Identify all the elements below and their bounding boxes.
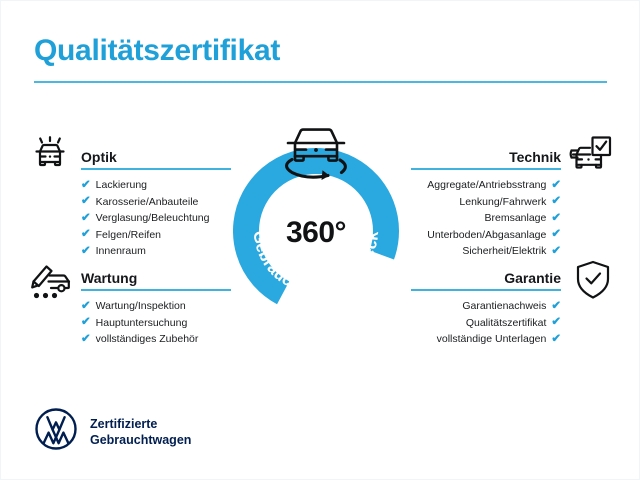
list-item: ✔ Garantienachweis [411, 298, 561, 315]
list-item: ✔ Innenraum [81, 243, 231, 260]
list-item: ✔ Wartung/Inspektion [81, 298, 231, 315]
section-header-optik: Optik [81, 144, 231, 170]
badge-degrees-label: 360° [233, 216, 399, 250]
list-item: ✔ Verglasung/Beleuchtung [81, 210, 231, 227]
certificate-page: Qualitätszertifikat [0, 0, 640, 480]
section-title-wartung: Wartung [81, 270, 137, 286]
section-wartung: Wartung ✔ Wartung/Inspektion ✔ Hauptunte… [81, 265, 231, 348]
check-icon: ✔ [81, 246, 91, 258]
check-icon: ✔ [551, 213, 561, 225]
list-item-label: Lackierung [96, 177, 147, 194]
check-icon: ✔ [81, 213, 91, 225]
section-title-garantie: Garantie [504, 270, 561, 286]
section-garantie: Garantie ✔ Garantienachweis ✔ Qualitätsz… [411, 265, 561, 348]
list-item-label: Garantienachweis [462, 298, 546, 315]
car-front-rotate-icon [270, 117, 362, 189]
list-item: ✔ Lackierung [81, 177, 231, 194]
section-title-optik: Optik [81, 149, 117, 165]
check-icon: ✔ [81, 334, 91, 346]
page-title: Qualitätszertifikat [34, 34, 280, 68]
check-icon: ✔ [551, 180, 561, 192]
check-icon: ✔ [551, 317, 561, 329]
list-item: ✔ Sicherheit/Elektrik [411, 243, 561, 260]
list-item-label: Innenraum [96, 243, 146, 260]
list-item: ✔ Felgen/Reifen [81, 227, 231, 244]
list-item: ✔ Unterboden/Abgasanlage [411, 227, 561, 244]
list-item: ✔ Bremsanlage [411, 210, 561, 227]
check-icon: ✔ [81, 301, 91, 313]
car-checkbox-icon [569, 135, 613, 182]
title-divider [34, 81, 607, 83]
check-icon: ✔ [551, 301, 561, 313]
check-icon: ✔ [81, 180, 91, 192]
list-item-label: Karosserie/Anbauteile [96, 194, 199, 211]
shield-check-icon [575, 259, 611, 306]
vw-logo-icon [34, 407, 78, 456]
car-pencil-service-icon [29, 259, 75, 306]
check-icon: ✔ [551, 196, 561, 208]
list-item: ✔ vollständiges Zubehör [81, 331, 231, 348]
section-optik: Optik ✔ Lackierung ✔ Karosserie/Anbautei… [81, 144, 231, 260]
check-icon: ✔ [551, 334, 561, 346]
badge-360-gebrauchtwagen-check: Gebrauchtwagen-Check 360° [233, 148, 399, 314]
section-list-garantie: ✔ Garantienachweis ✔ Qualitätszertifikat… [411, 298, 561, 348]
footer-line-1: Zertifizierte [90, 416, 191, 432]
section-header-garantie: Garantie [411, 265, 561, 291]
section-list-technik: ✔ Aggregate/Antriebsstrang ✔ Lenkung/Fah… [411, 177, 561, 260]
list-item-label: Qualitätszertifikat [466, 315, 547, 332]
section-header-technik: Technik [411, 144, 561, 170]
list-item-label: Wartung/Inspektion [96, 298, 186, 315]
list-item-label: vollständige Unterlagen [437, 331, 547, 348]
list-item: ✔ Qualitätszertifikat [411, 315, 561, 332]
check-icon: ✔ [81, 317, 91, 329]
list-item: ✔ Karosserie/Anbauteile [81, 194, 231, 211]
list-item: ✔ Aggregate/Antriebsstrang [411, 177, 561, 194]
footer-text: Zertifizierte Gebrauchtwagen [90, 416, 191, 448]
section-technik: Technik ✔ Aggregate/Antriebsstrang ✔ Len… [411, 144, 561, 260]
footer-line-2: Gebrauchtwagen [90, 432, 191, 448]
list-item-label: Lenkung/Fahrwerk [459, 194, 546, 211]
list-item-label: Bremsanlage [484, 210, 546, 227]
section-header-wartung: Wartung [81, 265, 231, 291]
list-item: ✔ Hauptuntersuchung [81, 315, 231, 332]
section-divider-technik [411, 168, 561, 170]
section-divider-optik [81, 168, 231, 170]
section-title-technik: Technik [509, 149, 561, 165]
list-item-label: Unterboden/Abgasanlage [427, 227, 546, 244]
car-front-headlights-icon [29, 135, 71, 182]
list-item: ✔ vollständige Unterlagen [411, 331, 561, 348]
list-item-label: Hauptuntersuchung [96, 315, 188, 332]
footer-brand: Zertifizierte Gebrauchtwagen [34, 407, 191, 456]
section-divider-garantie [411, 289, 561, 291]
section-divider-wartung [81, 289, 231, 291]
check-icon: ✔ [81, 196, 91, 208]
list-item-label: Verglasung/Beleuchtung [96, 210, 210, 227]
check-icon: ✔ [81, 229, 91, 241]
list-item-label: Aggregate/Antriebsstrang [427, 177, 546, 194]
list-item-label: Sicherheit/Elektrik [462, 243, 546, 260]
check-icon: ✔ [551, 229, 561, 241]
section-list-optik: ✔ Lackierung ✔ Karosserie/Anbauteile ✔ V… [81, 177, 231, 260]
list-item: ✔ Lenkung/Fahrwerk [411, 194, 561, 211]
check-icon: ✔ [551, 246, 561, 258]
list-item-label: Felgen/Reifen [96, 227, 161, 244]
list-item-label: vollständiges Zubehör [96, 331, 199, 348]
section-list-wartung: ✔ Wartung/Inspektion ✔ Hauptuntersuchung… [81, 298, 231, 348]
